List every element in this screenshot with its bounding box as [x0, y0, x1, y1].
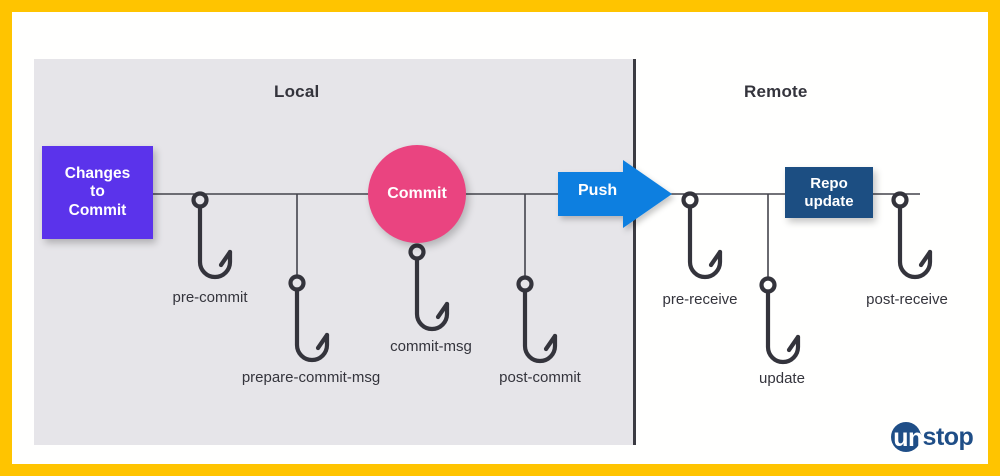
repo-update-box: Repo update [785, 167, 873, 218]
label-pre-commit: pre-commit [172, 289, 247, 306]
push-label: Push [578, 182, 617, 200]
logo-un-text: un [895, 424, 921, 452]
hook-commit-msg [411, 246, 448, 330]
repo-update-label: Repo update [804, 175, 853, 210]
unstop-logo: unstop un [893, 423, 973, 451]
label-prepare-commit-msg: prepare-commit-msg [242, 369, 380, 386]
changes-to-commit-box: Changes to Commit [42, 146, 153, 239]
hook-pre-commit [194, 194, 231, 278]
hook-post-receive [894, 194, 931, 278]
label-post-commit: post-commit [499, 369, 581, 386]
changes-to-commit-label: Changes to Commit [65, 165, 130, 220]
hook-prepare-commit-msg [291, 277, 328, 361]
label-post-receive: post-receive [866, 291, 948, 308]
hook-update [762, 279, 799, 363]
hook-post-commit [519, 278, 556, 362]
label-pre-receive: pre-receive [662, 291, 737, 308]
hook-pre-receive [684, 194, 721, 278]
commit-node: Commit [368, 145, 466, 243]
diagram-canvas: Local Remote [0, 0, 1000, 476]
commit-label: Commit [387, 185, 447, 203]
label-update: update [759, 370, 805, 387]
label-commit-msg: commit-msg [390, 338, 472, 355]
